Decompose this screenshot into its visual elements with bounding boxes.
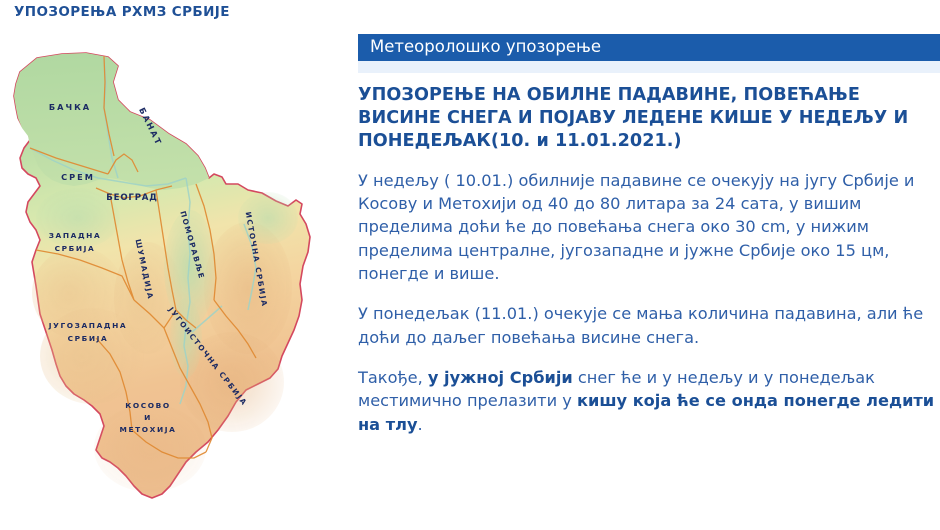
warning-paragraph-freezing-rain: Такође, у јужној Србији снег ће и у неде… [358,366,938,436]
warning-paragraph-sunday: У недељу ( 10.01.) обилније падавине се … [358,169,938,286]
warning-paragraph-monday: У понедељак (11.01.) очекује се мања кол… [358,302,938,349]
freezing-rain-bold-south-serbia: у јужној Србији [428,368,573,387]
page-title: УПОЗОРЕЊА РХМЗ СРБИЈЕ [14,4,230,20]
warning-article: УПОЗОРЕЊЕ НА ОБИЛНЕ ПАДАВИНЕ, ПОВЕЋАЊЕ В… [358,84,938,453]
title-bar-underband [358,61,940,73]
section-title-bar: Метеоролошко упозорење [358,34,940,61]
freezing-rain-text-part-3: . [418,415,423,434]
vojvodina-plain [14,53,209,190]
warning-headline: УПОЗОРЕЊЕ НА ОБИЛНЕ ПАДАВИНЕ, ПОВЕЋАЊЕ В… [358,84,938,153]
map-panel: БАЧКА БАНАТ СРЕМ БЕОГРАД ЗАПАДНА СРБИЈА … [0,38,340,530]
warning-content-panel: Метеоролошко упозорење УПОЗОРЕЊЕ НА ОБИЛ… [352,0,940,530]
map-of-serbia-svg: БАЧКА БАНАТ СРЕМ БЕОГРАД ЗАПАДНА СРБИЈА … [0,38,340,518]
page-root: УПОЗОРЕЊА РХМЗ СРБИЈЕ [0,0,940,530]
freezing-rain-text-part-1: Такође, [358,368,428,387]
section-title-label: Метеоролошко упозорење [370,37,601,56]
